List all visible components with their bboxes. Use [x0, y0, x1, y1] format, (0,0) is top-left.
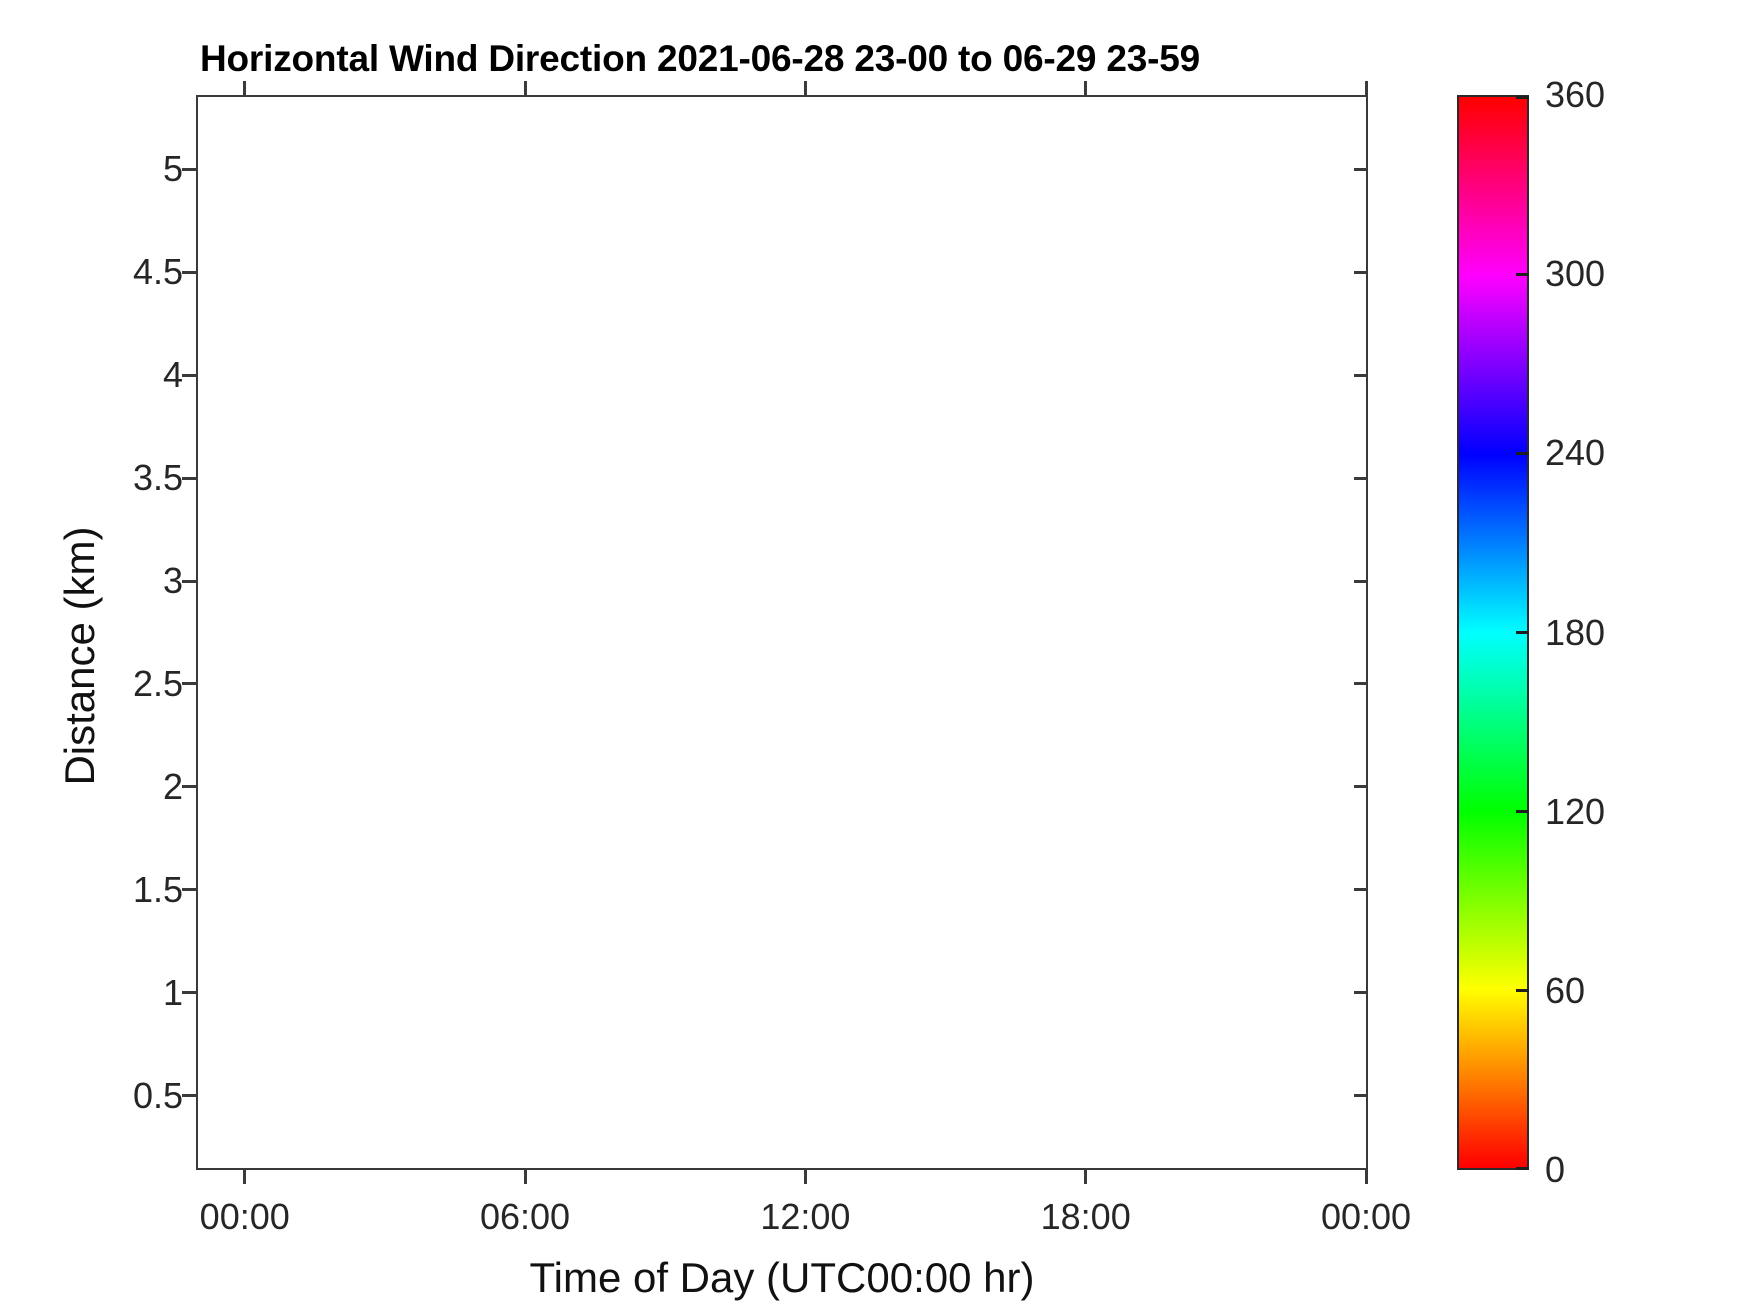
- colorbar-tick-mark: [1516, 1167, 1529, 1170]
- x-tick-label: 12:00: [760, 1196, 850, 1238]
- y-tick-label: 4: [163, 354, 183, 396]
- y-tick-mark: [1354, 477, 1368, 480]
- x-tick-mark: [524, 81, 527, 95]
- x-tick-mark: [243, 81, 246, 95]
- y-tick-label: 5: [163, 148, 183, 190]
- colorbar-tick-label: 180: [1545, 612, 1605, 654]
- y-tick-mark: [1354, 168, 1368, 171]
- colorbar-tick-mark: [1516, 273, 1529, 276]
- colorbar-tick-mark: [1516, 631, 1529, 634]
- x-tick-mark: [1365, 1170, 1368, 1184]
- x-tick-label: 06:00: [480, 1196, 570, 1238]
- colorbar-tick-mark: [1516, 989, 1529, 992]
- x-tick-label: 18:00: [1041, 1196, 1131, 1238]
- y-tick-label: 0.5: [133, 1075, 183, 1117]
- x-tick-label: 00:00: [200, 1196, 290, 1238]
- colorbar-tick-label: 0: [1545, 1149, 1565, 1191]
- colorbar-tick-label: 60: [1545, 970, 1585, 1012]
- y-tick-mark: [1354, 785, 1368, 788]
- colorbar-tick-label: 240: [1545, 432, 1605, 474]
- x-tick-mark: [524, 1170, 527, 1184]
- x-tick-mark: [243, 1170, 246, 1184]
- y-tick-mark: [1354, 271, 1368, 274]
- colorbar-tick-label: 120: [1545, 791, 1605, 833]
- x-tick-mark: [1084, 1170, 1087, 1184]
- y-tick-mark: [182, 888, 196, 891]
- wind-direction-figure: Horizontal Wind Direction 2021-06-28 23-…: [0, 0, 1750, 1313]
- colorbar-tick-mark: [1516, 96, 1529, 99]
- y-tick-label: 3.5: [133, 457, 183, 499]
- y-tick-mark: [182, 374, 196, 377]
- x-tick-label: 00:00: [1321, 1196, 1411, 1238]
- y-tick-label: 1.5: [133, 869, 183, 911]
- x-tick-mark: [804, 1170, 807, 1184]
- y-tick-mark: [1354, 682, 1368, 685]
- colorbar-tick-mark: [1516, 452, 1529, 455]
- y-tick-label: 4.5: [133, 251, 183, 293]
- y-tick-mark: [1354, 580, 1368, 583]
- colorbar-tick-label: 360: [1545, 74, 1605, 116]
- x-tick-mark: [1365, 81, 1368, 95]
- y-tick-mark: [1354, 374, 1368, 377]
- axes-frame: [196, 95, 1368, 1170]
- y-tick-mark: [182, 271, 196, 274]
- y-tick-label: 2.5: [133, 663, 183, 705]
- y-tick-mark: [182, 785, 196, 788]
- y-tick-label: 3: [163, 560, 183, 602]
- x-tick-mark: [804, 81, 807, 95]
- y-tick-mark: [182, 477, 196, 480]
- y-tick-mark: [182, 682, 196, 685]
- y-tick-label: 1: [163, 972, 183, 1014]
- y-tick-mark: [182, 991, 196, 994]
- x-axis-label: Time of Day (UTC00:00 hr): [196, 1254, 1368, 1302]
- y-tick-mark: [1354, 1094, 1368, 1097]
- y-tick-mark: [182, 1094, 196, 1097]
- y-tick-mark: [182, 168, 196, 171]
- page-title: Horizontal Wind Direction 2021-06-28 23-…: [0, 38, 1400, 80]
- y-tick-label: 2: [163, 766, 183, 808]
- colorbar-tick-label: 300: [1545, 253, 1605, 295]
- y-tick-mark: [1354, 888, 1368, 891]
- y-tick-mark: [1354, 991, 1368, 994]
- y-axis-label: Distance (km): [56, 376, 104, 936]
- colorbar-tick-mark: [1516, 810, 1529, 813]
- y-tick-mark: [182, 580, 196, 583]
- x-tick-mark: [1084, 81, 1087, 95]
